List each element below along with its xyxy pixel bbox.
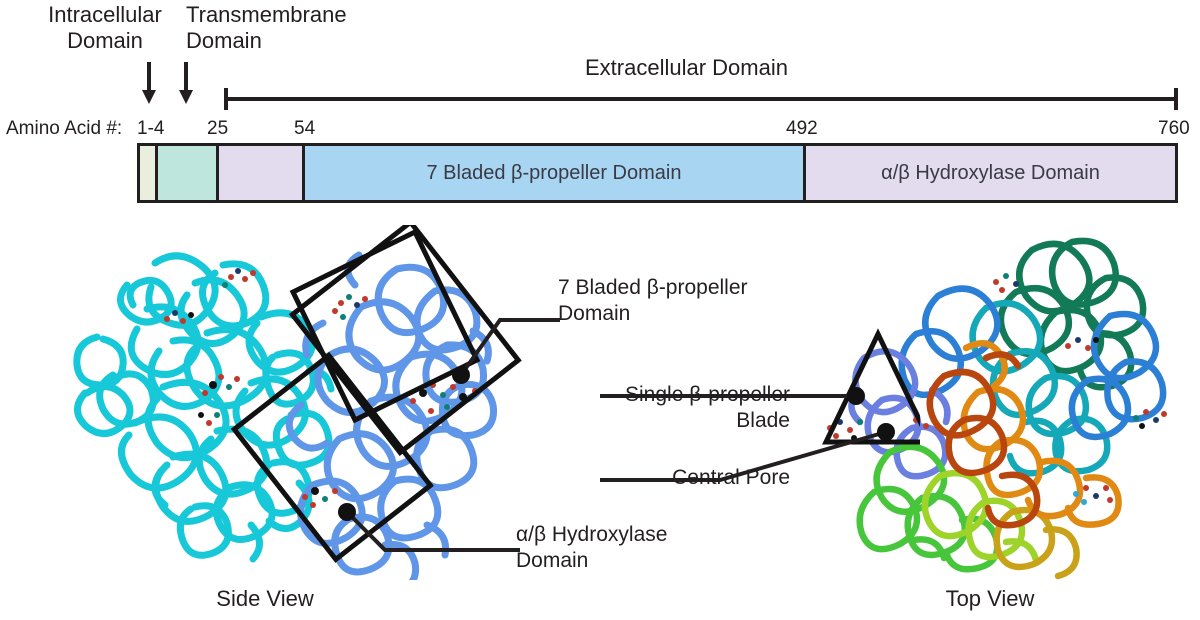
- domain-segment-intracellular[interactable]: [140, 146, 155, 200]
- beta-propeller-anchor-dot: [452, 366, 470, 384]
- transmembrane-domain-label: Transmembrane Domain: [186, 2, 371, 54]
- callout-hydroxylase-domain: α/β Hydroxylase Domain: [516, 522, 746, 574]
- single-blade-triangle: [826, 334, 920, 442]
- extracellular-domain-bracket: [224, 88, 1178, 110]
- amino-acid-axis-prefix: Amino Acid #:: [6, 118, 122, 140]
- hydroxylase-anchor-dot: [338, 503, 356, 521]
- aa-tick-54: 54: [294, 118, 315, 140]
- figure-canvas: Intracellular Domain Transmembrane Domai…: [0, 0, 1200, 620]
- aa-tick-1-4: 1-4: [137, 118, 164, 140]
- domain-architecture-bar: 7 Bladed β-propeller Domain α/β Hydroxyl…: [137, 143, 1178, 203]
- aa-tick-25: 25: [207, 118, 228, 140]
- domain-segment-juxtamembrane[interactable]: [155, 146, 216, 200]
- domain-segment-hydroxylase[interactable]: α/β Hydroxylase Domain: [803, 146, 1175, 200]
- central-pore-anchor-dot: [877, 423, 895, 441]
- domain-segment-transmembrane-stalk[interactable]: [216, 146, 302, 200]
- extracellular-domain-label: Extracellular Domain: [585, 55, 788, 81]
- intracellular-domain-label: Intracellular Domain: [30, 2, 180, 54]
- callout-central-pore: Central Pore: [575, 465, 790, 491]
- beta-propeller-callout-box: [293, 232, 477, 420]
- single-blade-anchor-dot: [847, 387, 865, 405]
- callout-single-blade: Single β-propeller Blade: [575, 382, 790, 434]
- domain-segment-beta-propeller[interactable]: 7 Bladed β-propeller Domain: [302, 146, 803, 200]
- hydroxylase-box: [234, 355, 430, 559]
- aa-tick-492: 492: [786, 118, 818, 140]
- top-view-label: Top View: [880, 586, 1100, 612]
- side-view-label: Side View: [155, 586, 375, 612]
- aa-tick-760: 760: [1158, 118, 1190, 140]
